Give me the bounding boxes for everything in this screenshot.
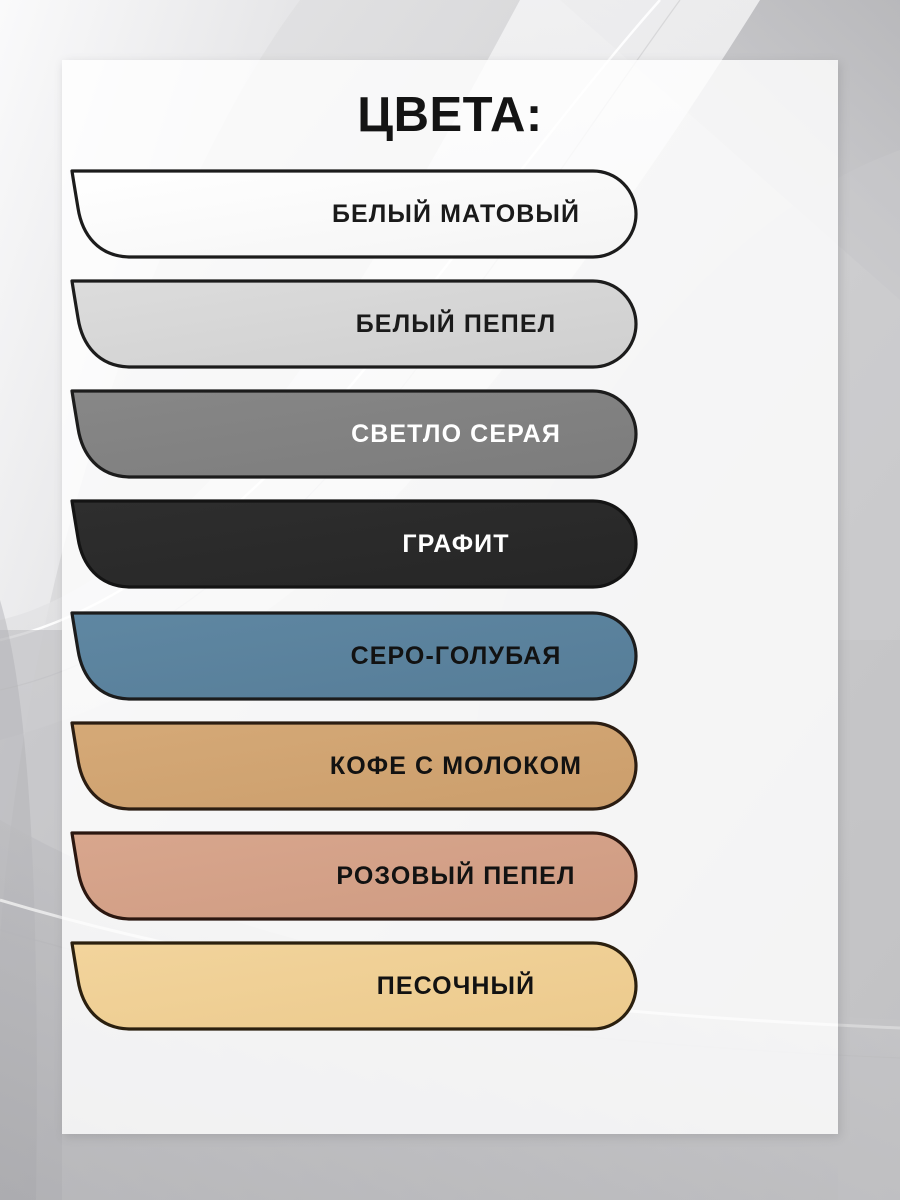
color-swatch-row[interactable]: ГРАФИТ [62,498,838,590]
swatch-path [72,501,636,587]
swatch-path [72,833,636,919]
color-chart-card: ЦВЕТА: БЕЛЫЙ МАТОВЫЙ [62,60,838,1134]
swatch-path [72,391,636,477]
swatch-path [72,723,636,809]
swatch-shape [62,278,838,370]
product-color-chart: ЦВЕТА: БЕЛЫЙ МАТОВЫЙ [0,0,900,1200]
swatch-shape [62,940,838,1032]
color-swatch-row[interactable]: БЕЛЫЙ МАТОВЫЙ [62,168,838,260]
color-swatch-row[interactable]: РОЗОВЫЙ ПЕПЕЛ [62,830,838,922]
color-swatch-row[interactable]: БЕЛЫЙ ПЕПЕЛ [62,278,838,370]
color-swatch-row[interactable]: СВЕТЛО СЕРАЯ [62,388,838,480]
swatch-shape [62,168,838,260]
swatch-shape [62,610,838,702]
swatch-shape [62,498,838,590]
color-swatch-list: БЕЛЫЙ МАТОВЫЙ БЕЛЫЙ ПЕПЕЛ [62,60,838,1134]
color-swatch-row[interactable]: ПЕСОЧНЫЙ [62,940,838,1032]
swatch-path [72,943,636,1029]
swatch-path [72,281,636,367]
swatch-shape [62,388,838,480]
color-swatch-row[interactable]: СЕРО-ГОЛУБАЯ [62,610,838,702]
swatch-path [72,613,636,699]
swatch-shape [62,830,838,922]
swatch-shape [62,720,838,812]
color-swatch-row[interactable]: КОФЕ С МОЛОКОМ [62,720,838,812]
swatch-path [72,171,636,257]
